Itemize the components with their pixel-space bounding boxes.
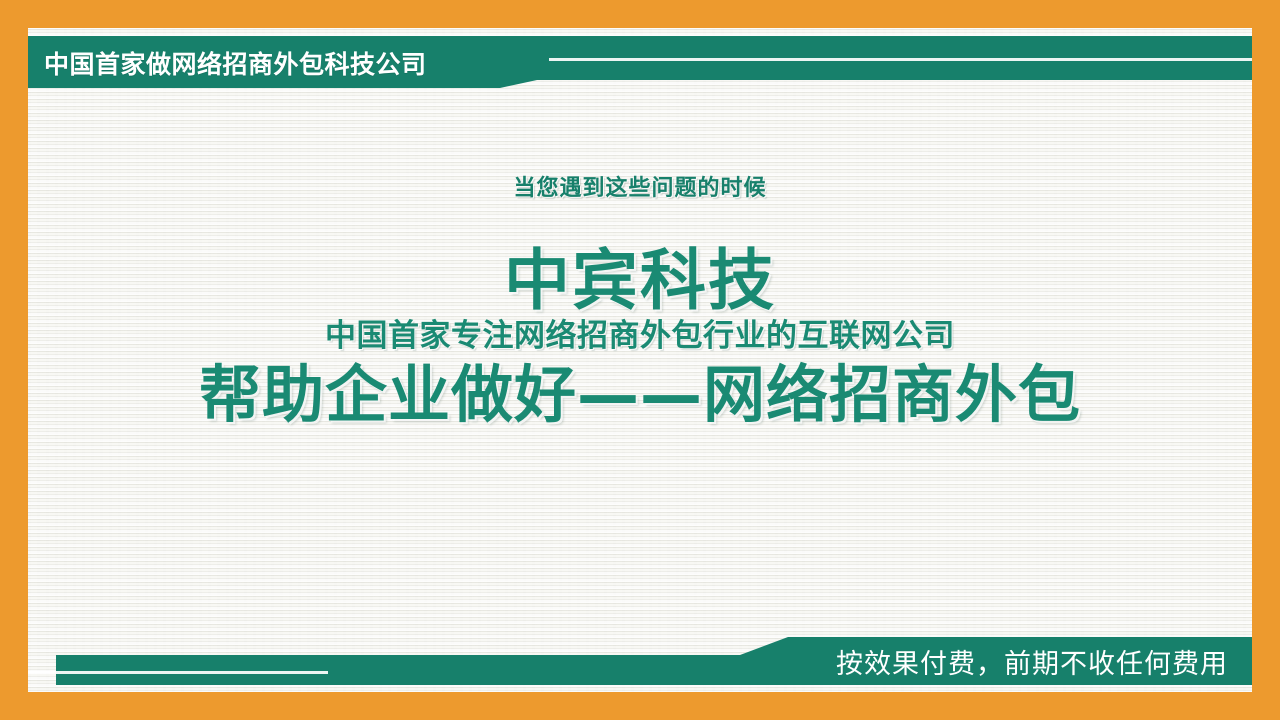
brand-title: 中宾科技 [28, 245, 1252, 317]
bottom-banner-label: 按效果付费，前期不收任何费用 [836, 649, 1228, 681]
eyebrow-text: 当您遇到这些问题的时候 [28, 170, 1252, 202]
tagline-text: 中国首家专注网络招商外包行业的互联网公司 [28, 318, 1252, 354]
headline-text: 帮助企业做好——网络招商外包 [28, 358, 1252, 432]
slide-content: 当您遇到这些问题的时候 中宾科技 中国首家专注网络招商外包行业的互联网公司 帮助… [28, 28, 1252, 692]
presentation-slide: 中国首家做网络招商外包科技公司 当您遇到这些问题的时候 中宾科技 中国首家专注网… [0, 0, 1280, 720]
bottom-banner-divider-line [28, 671, 328, 674]
slide-canvas: 中国首家做网络招商外包科技公司 当您遇到这些问题的时候 中宾科技 中国首家专注网… [28, 28, 1252, 692]
bottom-banner: 按效果付费，前期不收任何费用 [28, 627, 1252, 687]
